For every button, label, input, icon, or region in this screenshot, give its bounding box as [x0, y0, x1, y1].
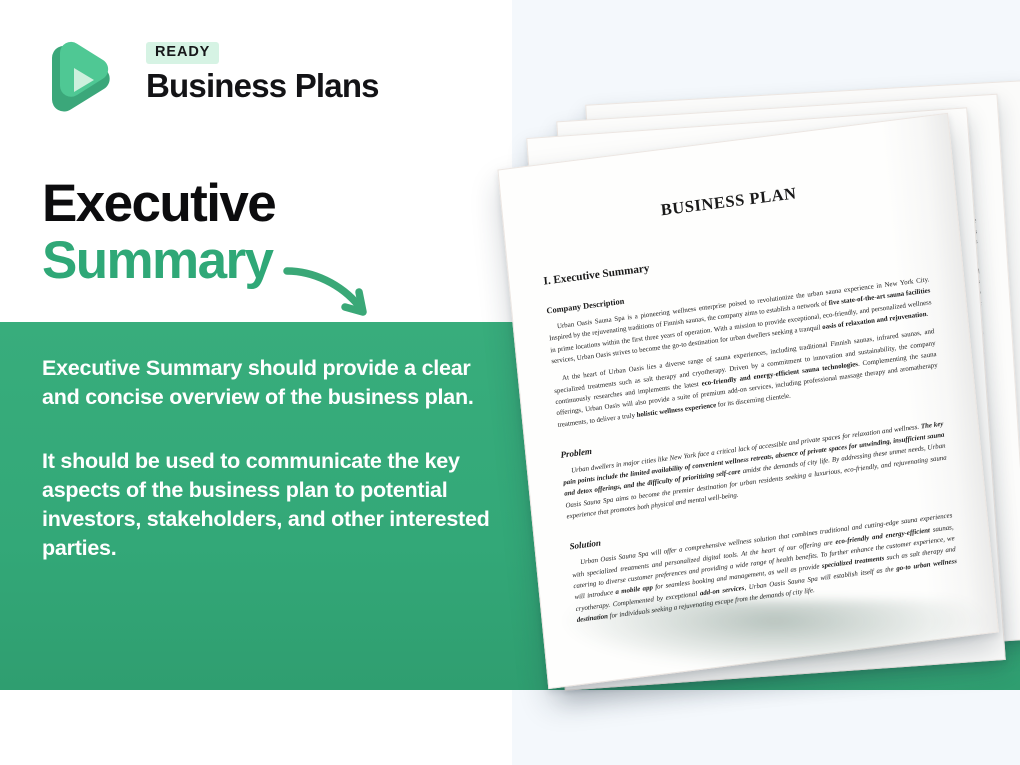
brand-logo[interactable]: READY Business Plans — [42, 38, 462, 118]
document-title: BUSINESS PLAN — [537, 168, 920, 236]
document-content: BUSINESS PLAN I. Executive Summary Compa… — [499, 114, 998, 688]
play-triangle-logo-icon — [42, 38, 116, 116]
document-section-heading: I. Executive Summary — [543, 228, 925, 288]
page-title: Executive Summary — [42, 176, 472, 289]
headline-line-1: Executive — [42, 176, 472, 233]
summary-paragraph-2: It should be used to communicate the key… — [42, 447, 492, 563]
document-page-front[interactable]: BUSINESS PLAN I. Executive Summary Compa… — [497, 113, 999, 689]
curved-arrow-down-right-icon — [283, 262, 383, 324]
brand-title: Business Plans — [146, 69, 379, 104]
document-paragraph: Urban Oasis Sauna Spa will offer a compr… — [571, 511, 959, 627]
summary-paragraph-1: Executive Summary should provide a clear… — [42, 354, 492, 412]
slide-canvas: READY Business Plans Executive Summary E… — [0, 0, 1020, 765]
headline-line-2: Summary — [42, 233, 472, 290]
ready-badge: READY — [146, 42, 219, 64]
brand-logo-text: READY Business Plans — [146, 42, 379, 103]
summary-description: Executive Summary should provide a clear… — [42, 354, 492, 562]
